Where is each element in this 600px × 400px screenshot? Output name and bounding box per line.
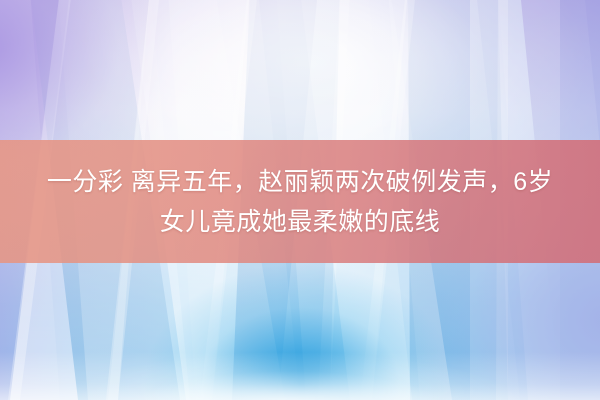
promo-banner: 一分彩 离异五年，赵丽颖两次破例发声，6岁 女儿竟成她最柔嫩的底线 (0, 0, 600, 400)
headline-text-block: 一分彩 离异五年，赵丽颖两次破例发声，6岁 女儿竟成她最柔嫩的底线 (0, 140, 600, 263)
headline-line-2: 女儿竟成她最柔嫩的底线 (160, 204, 441, 240)
headline-line-1: 一分彩 离异五年，赵丽颖两次破例发声，6岁 (47, 164, 553, 200)
